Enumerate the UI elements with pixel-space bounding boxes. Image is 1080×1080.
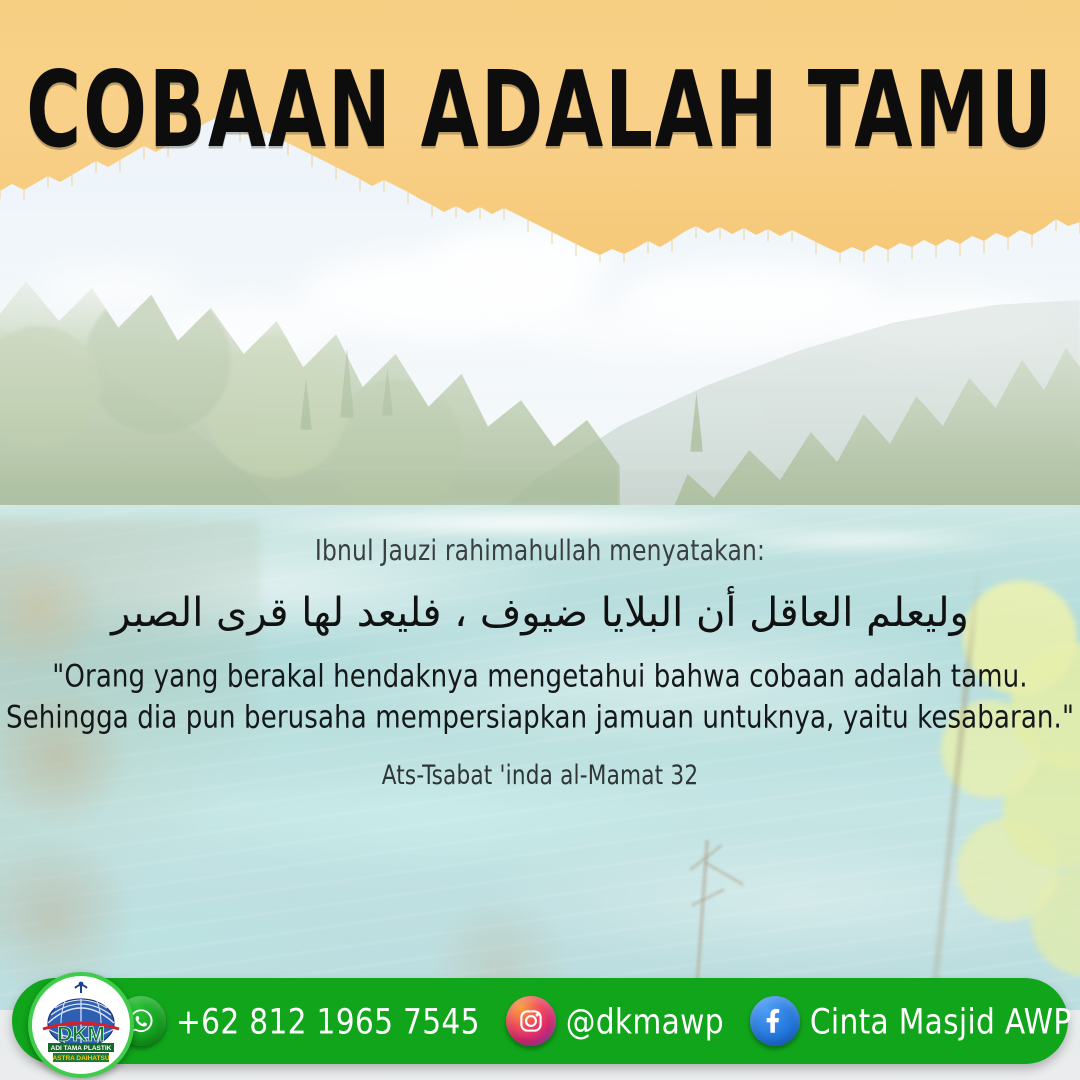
quote-translation-line-2: Sehingga dia pun berusaha mempersiapkan … [0,696,1080,737]
poster-canvas: COBAAN ADALAH TAMU Ibnul Jauzi rahimahul… [0,0,1080,1080]
whatsapp-number: +62 812 1965 7545 [176,1001,480,1042]
logo-subtitle-2: ASTRA DAIHATSU [52,1055,109,1062]
quote-translation: "Orang yang berakal hendaknya mengetahui… [0,655,1080,738]
header-band: COBAAN ADALAH TAMU [0,0,1080,262]
svg-text:DKM: DKM [57,1023,105,1046]
dkm-logo-icon: DKM ADI TAMA PLASTIK ASTRA DAIHATSU [35,979,127,1071]
facebook-icon[interactable] [750,996,800,1046]
contact-instagram[interactable]: @dkmawp [506,996,724,1046]
facebook-page: Cinta Masjid AWP [810,1001,1072,1042]
facebook-glyph [760,1006,790,1036]
logo-subtitle-1: ADI TAMA PLASTIK [51,1045,112,1052]
organization-logo: DKM ADI TAMA PLASTIK ASTRA DAIHATSU [28,972,134,1078]
instagram-icon[interactable] [506,996,556,1046]
footer-contacts: +62 812 1965 7545 @dkmawp [12,978,1068,1064]
quote-arabic: وليعلم العاقل أن البلايا ضيوف ، فليعد له… [0,586,1080,640]
cloud [520,300,840,360]
quote-source: Ats-Tsabat 'inda al-Mamat 32 [0,759,1080,790]
cloud [40,262,190,317]
quote-block: Ibnul Jauzi rahimahullah menyatakan: ولي… [0,536,1080,789]
contact-facebook[interactable]: Cinta Masjid AWP [750,996,1072,1046]
page-title: COBAAN ADALAH TAMU [16,58,1064,163]
contact-whatsapp[interactable]: +62 812 1965 7545 [116,996,480,1046]
instagram-handle: @dkmawp [566,1001,724,1042]
quote-attribution: Ibnul Jauzi rahimahullah menyatakan: [0,535,1080,568]
quote-translation-line-1: "Orang yang berakal hendaknya mengetahui… [0,655,1080,696]
footer-bar: DKM ADI TAMA PLASTIK ASTRA DAIHATSU + [12,978,1068,1064]
instagram-glyph [517,1007,545,1035]
